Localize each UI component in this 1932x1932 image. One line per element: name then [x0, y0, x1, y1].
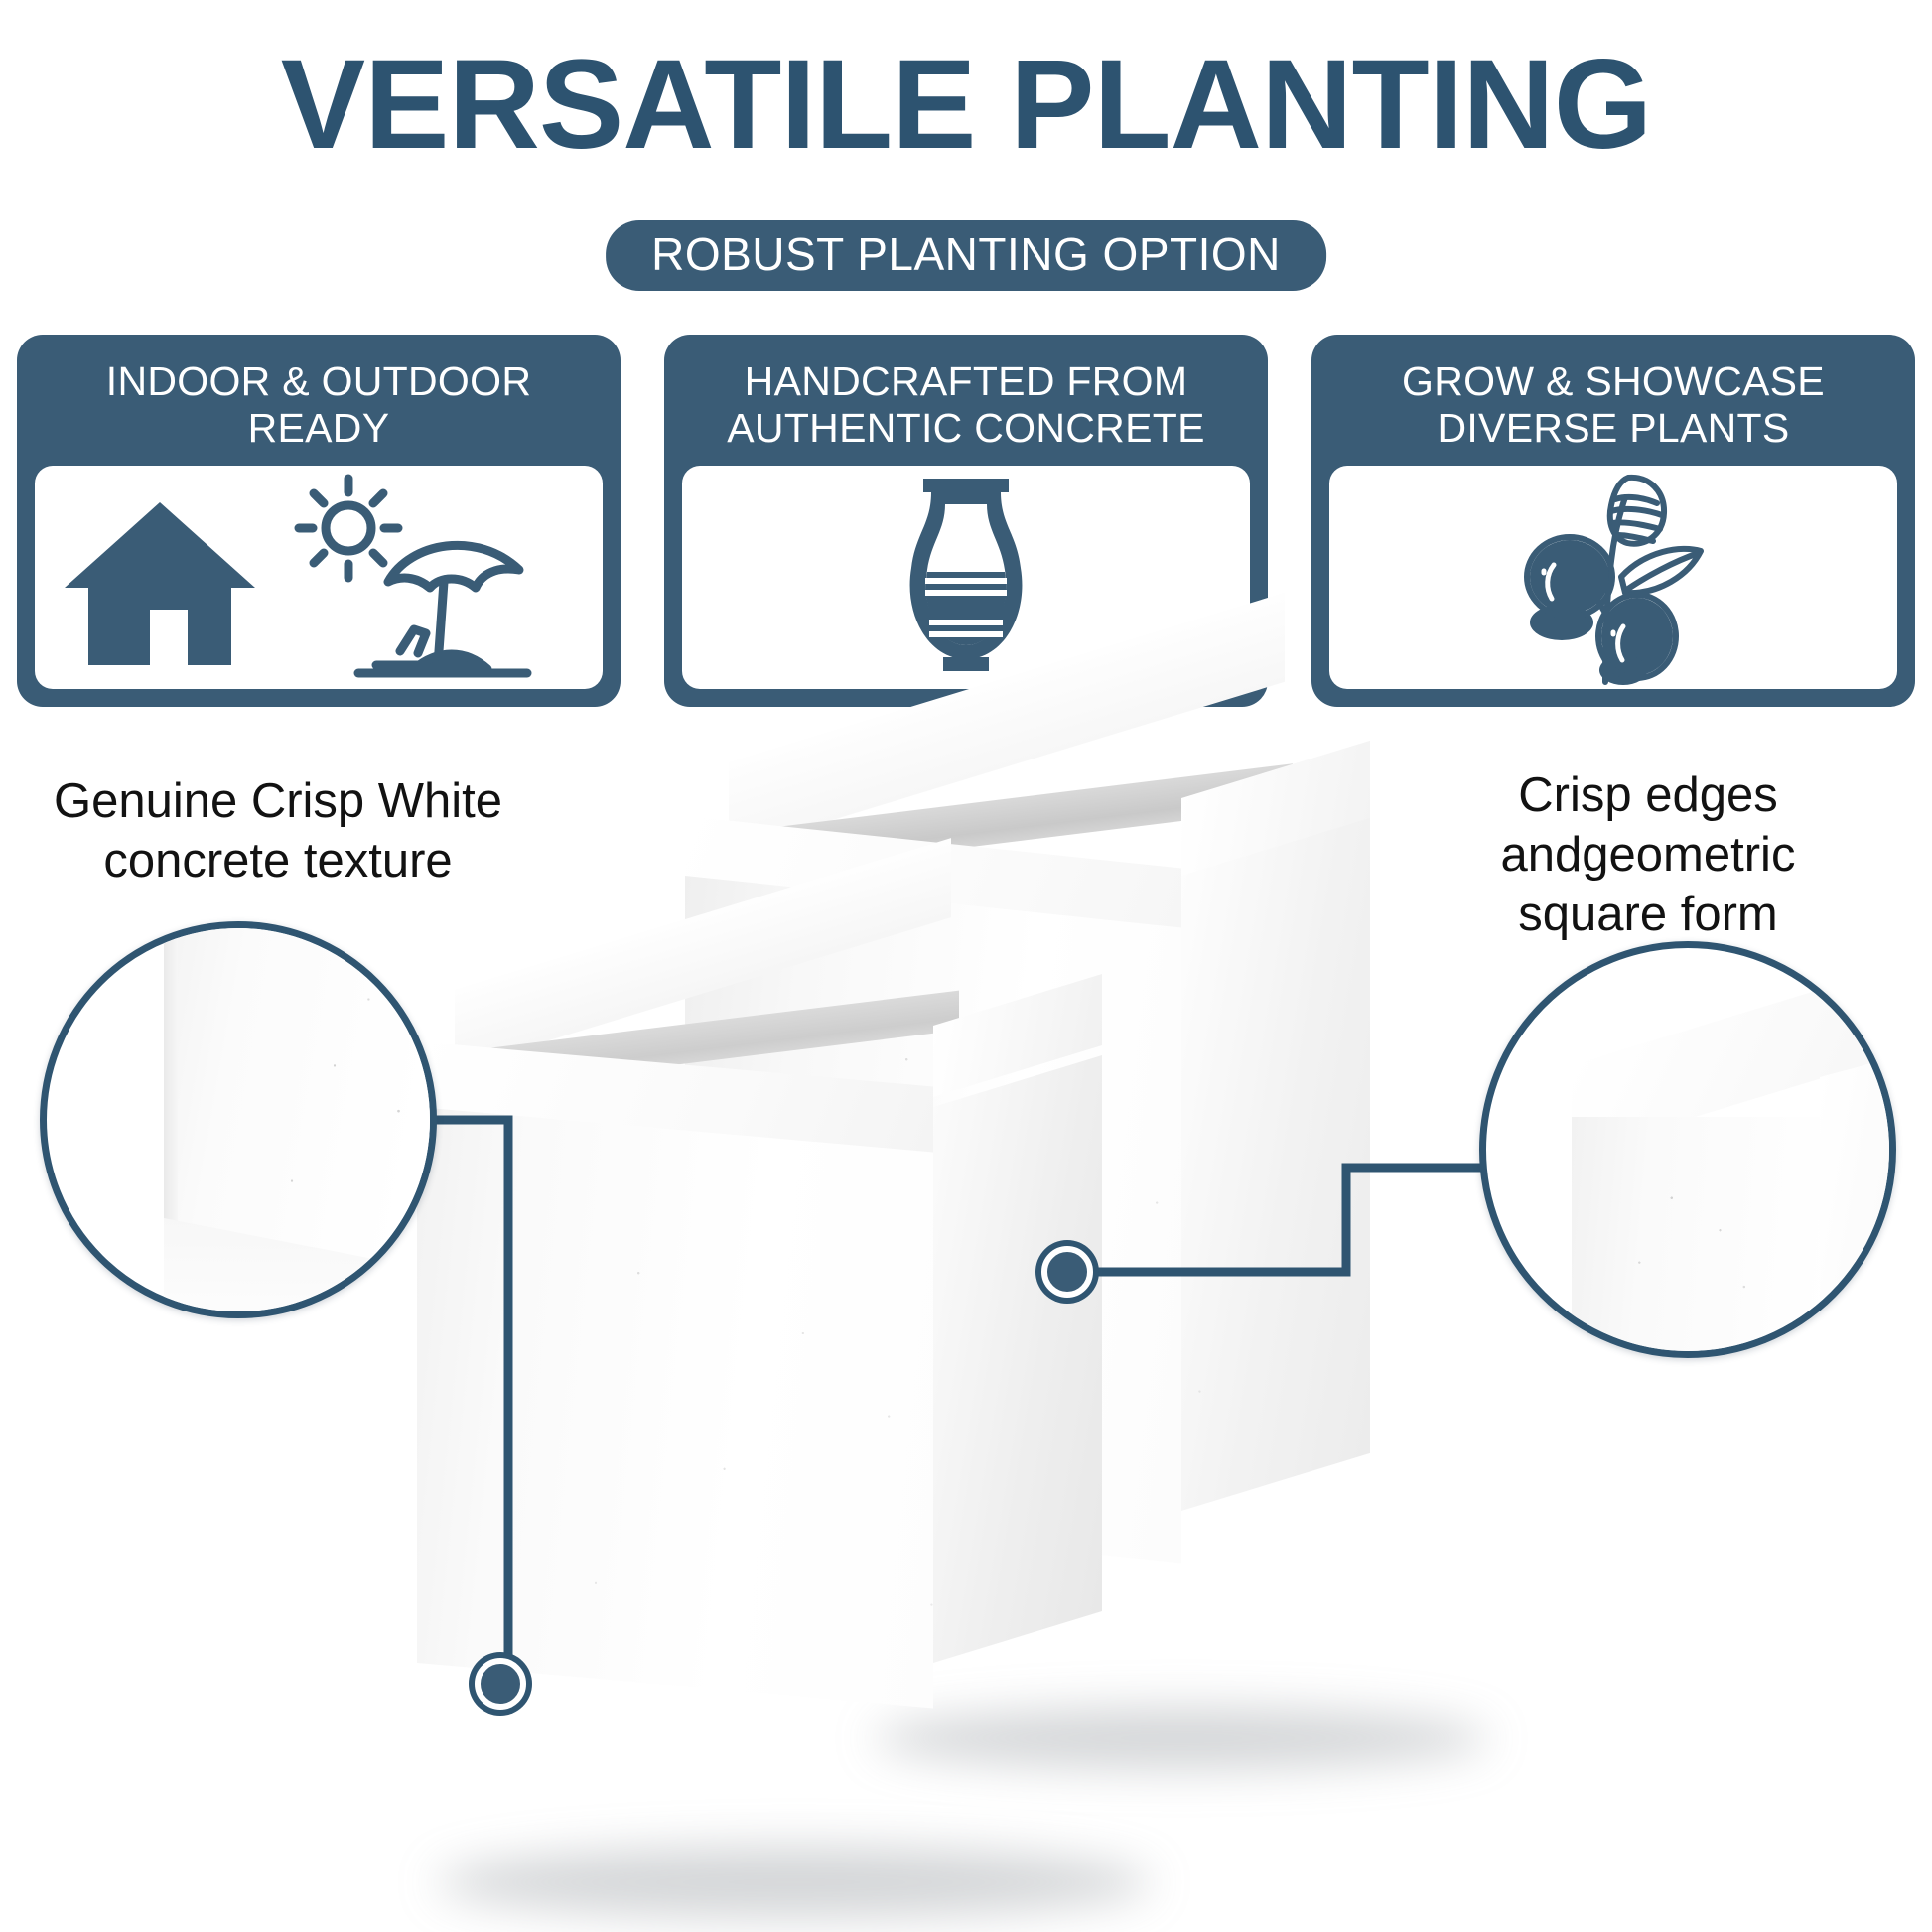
subtitle-badge: ROBUST PLANTING OPTION	[606, 220, 1326, 291]
feature-card-title: GROW & SHOWCASE DIVERSE PLANTS	[1329, 350, 1897, 466]
zoom-circle-concrete-texture	[40, 921, 437, 1318]
concrete-texture-crop	[47, 928, 430, 1311]
callout-label-concrete-texture: Genuine Crisp White concrete texture	[10, 772, 546, 892]
house-icon	[65, 502, 255, 665]
indoor-outdoor-icon-group	[61, 471, 577, 684]
feature-card-diverse-plants[interactable]: GROW & SHOWCASE DIVERSE PLANTS	[1311, 335, 1915, 707]
zoom-circle-crisp-edges	[1479, 941, 1896, 1358]
page-title: VERSATILE PLANTING	[0, 42, 1932, 169]
feature-card-row: INDOOR & OUTDOOR READY	[17, 335, 1915, 707]
callout-marker-dot-left[interactable]	[475, 1658, 526, 1710]
sun-icon	[299, 479, 398, 578]
callout-label-crisp-edges: Crisp edges andgeometric square form	[1390, 766, 1906, 944]
crisp-edge-crop	[1486, 948, 1889, 1351]
vase-icon	[842, 469, 1090, 687]
planter-front	[417, 1107, 1132, 1862]
feature-icon-panel	[35, 466, 603, 689]
feature-card-title: HANDCRAFTED FROM AUTHENTIC CONCRETE	[682, 350, 1250, 466]
feature-card-title: INDOOR & OUTDOOR READY	[35, 350, 603, 466]
feature-icon-panel	[1329, 466, 1897, 689]
feature-card-indoor-outdoor[interactable]: INDOOR & OUTDOOR READY	[17, 335, 621, 707]
berry-plant-icon	[1474, 466, 1752, 689]
callout-marker-dot-right[interactable]	[1041, 1246, 1093, 1298]
